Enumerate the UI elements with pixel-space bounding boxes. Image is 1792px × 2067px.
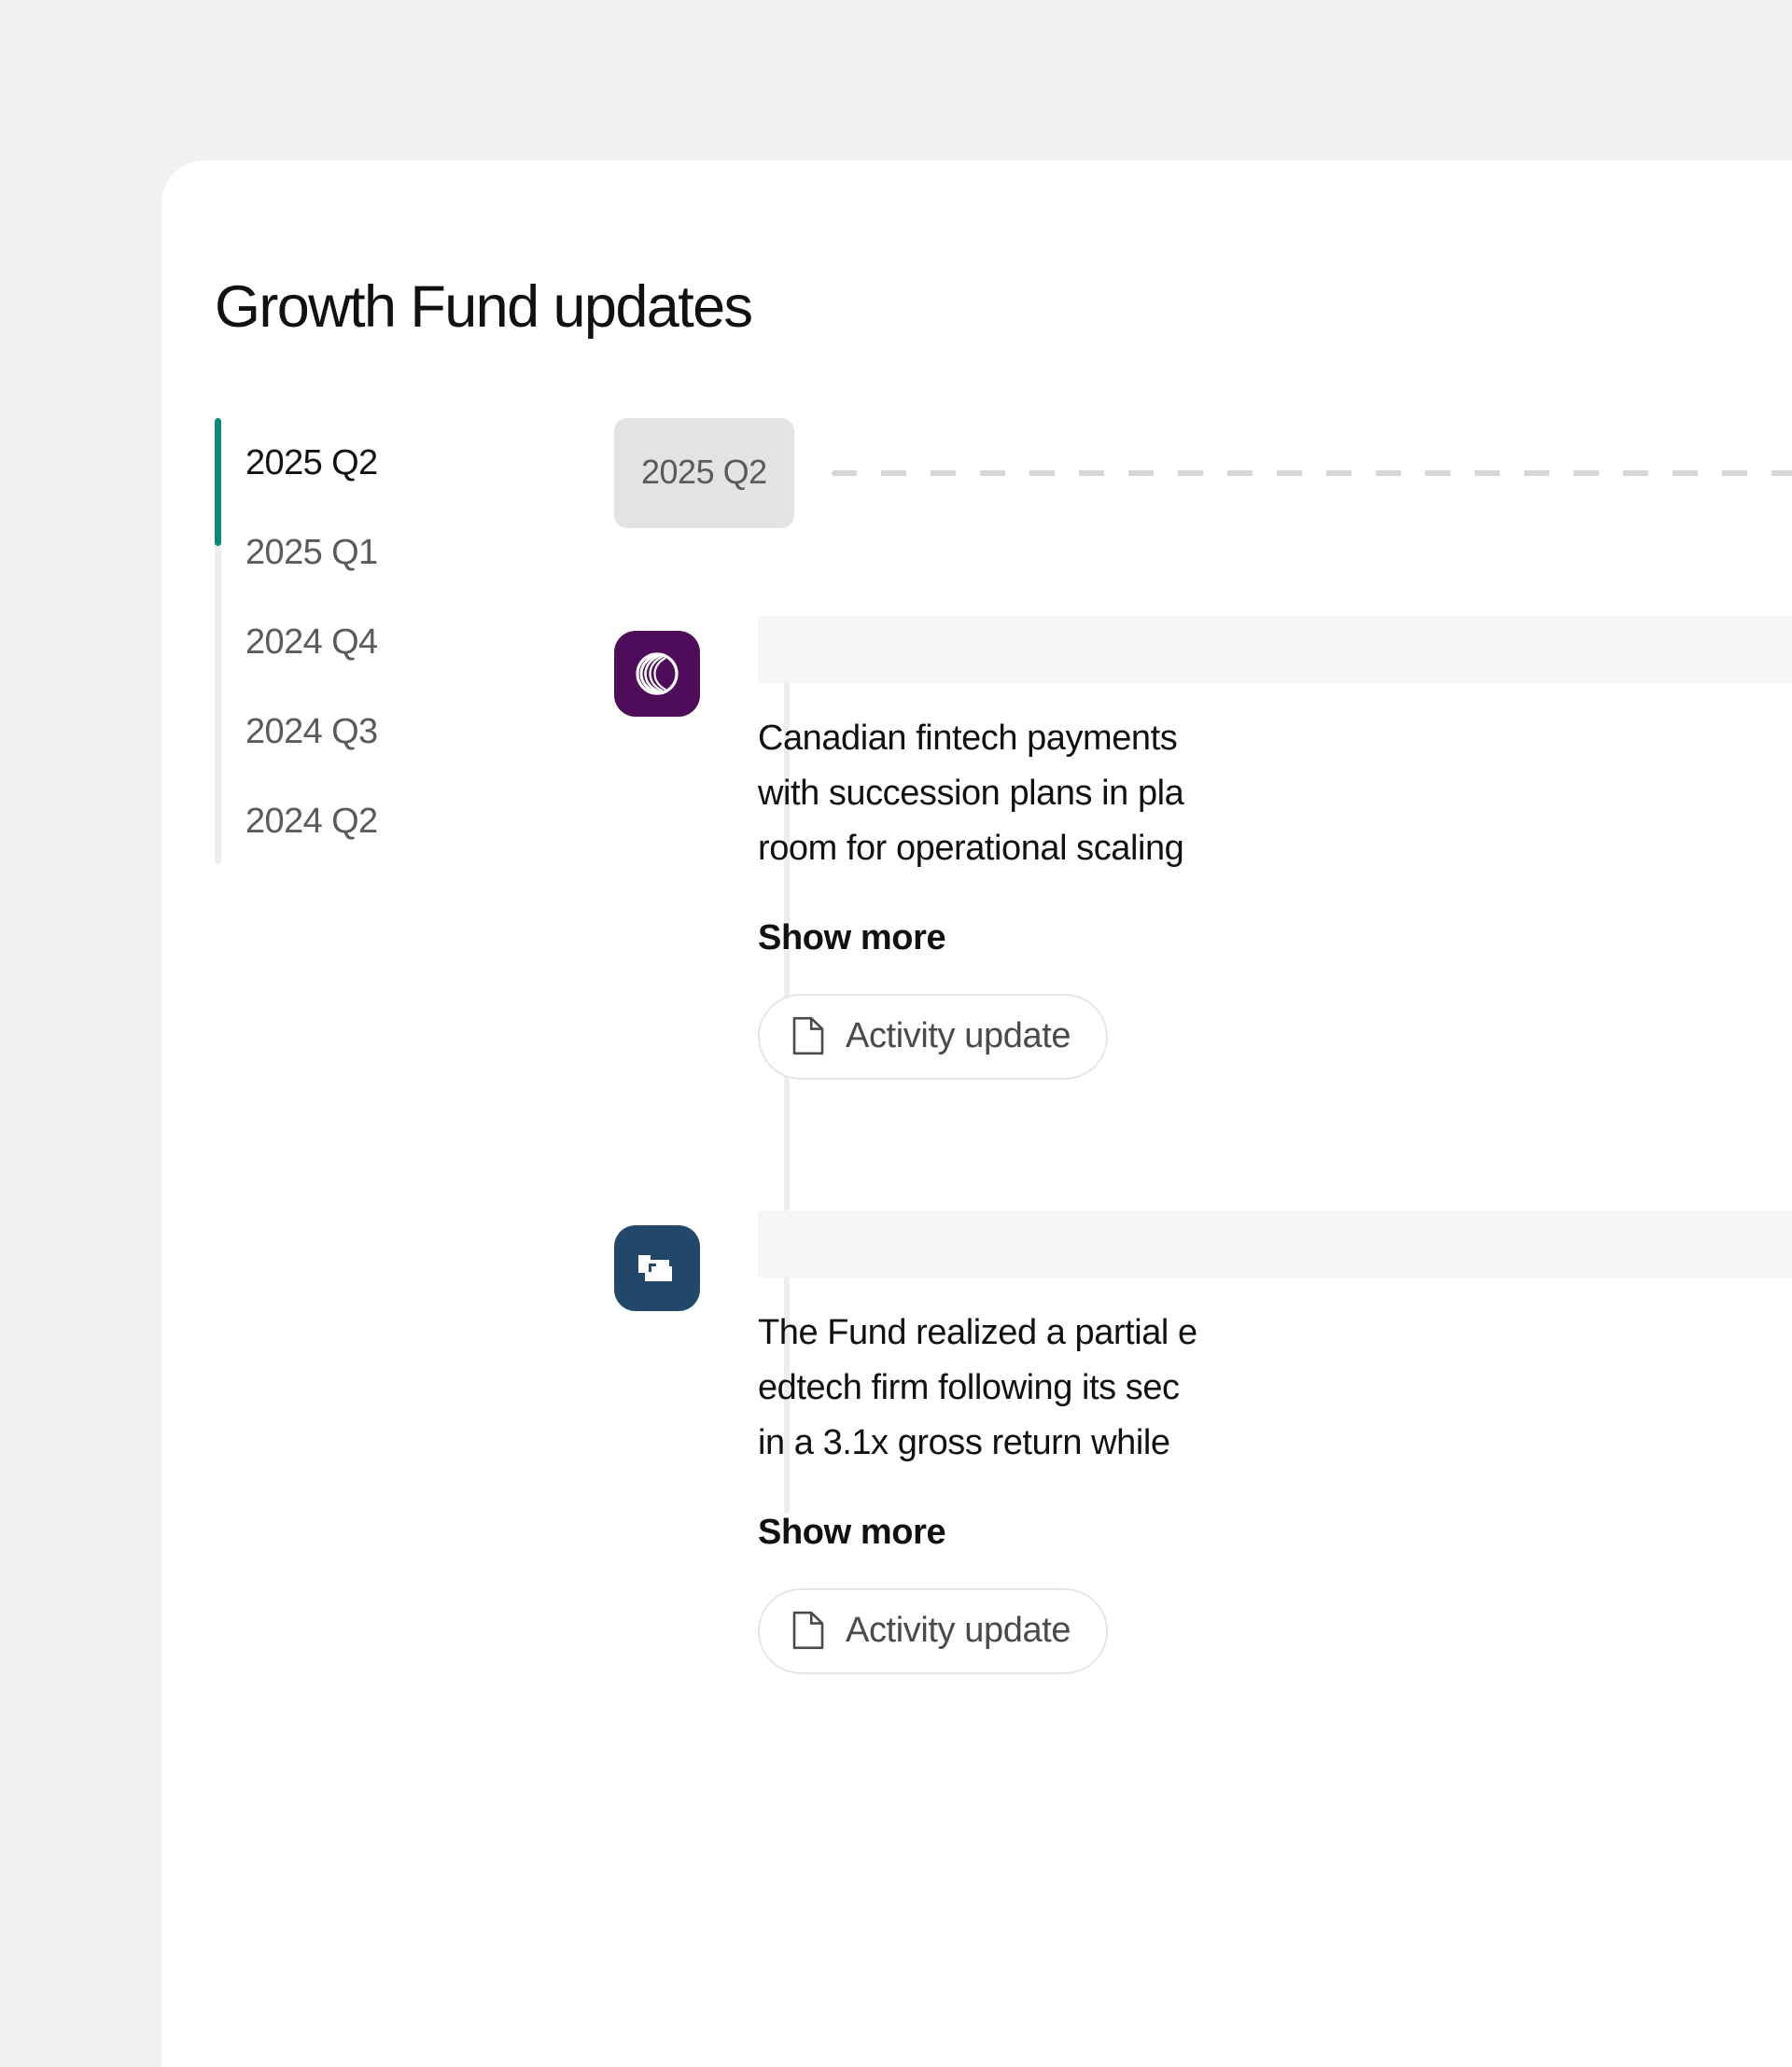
company-logo-purple-crescent-icon [614,631,700,717]
show-more-link[interactable]: Show more [758,1510,945,1555]
activity-update-tag[interactable]: Activity update [758,1588,1108,1674]
show-more-link[interactable]: Show more [758,915,945,960]
activity-update-tag-label: Activity update [846,1609,1071,1652]
entry-headline-placeholder [758,1210,1792,1278]
company-logo-blue-squares-icon [614,1225,700,1311]
entry-headline-placeholder [758,616,1792,683]
timeline-entry-content: Canadian fintech payments with successio… [758,616,1792,1080]
timeline-entry-content: The Fund realized a partial e edtech fir… [758,1210,1792,1674]
sidebar-item-2025-q2[interactable]: 2025 Q2 [245,418,523,508]
app-root: Growth Fund updates 2025 Q2 2025 Q1 2024… [0,0,1792,2067]
quarter-nav: 2025 Q2 2025 Q1 2024 Q4 2024 Q3 2024 Q2 [215,418,523,866]
timeline-quarter-header: 2025 Q2 [614,418,1792,528]
content-panel: Growth Fund updates 2025 Q2 2025 Q1 2024… [161,161,1792,2067]
quarter-nav-list: 2025 Q2 2025 Q1 2024 Q4 2024 Q3 2024 Q2 [215,418,523,866]
quarter-chip-2025-q2[interactable]: 2025 Q2 [614,418,794,528]
sidebar-item-2025-q1[interactable]: 2025 Q1 [245,508,523,597]
timeline-entry: The Fund realized a partial e edtech fir… [614,1210,1792,1674]
activity-update-tag[interactable]: Activity update [758,994,1108,1080]
timeline-entry: Canadian fintech payments with successio… [614,616,1792,1080]
entry-body-text: The Fund realized a partial e edtech fir… [758,1306,1792,1471]
timeline: 2025 Q2 [614,418,1792,1805]
content-body: 2025 Q2 2025 Q1 2024 Q4 2024 Q3 2024 Q2 … [161,161,1792,2067]
activity-update-tag-label: Activity update [846,1014,1071,1057]
document-icon [791,1016,825,1055]
sidebar-item-2024-q4[interactable]: 2024 Q4 [245,597,523,687]
timeline-dashed-divider [832,470,1792,476]
timeline-entry-list: Canadian fintech payments with successio… [614,616,1792,1674]
sidebar-item-2024-q2[interactable]: 2024 Q2 [245,776,523,866]
entry-body-text: Canadian fintech payments with successio… [758,711,1792,876]
sidebar-item-2024-q3[interactable]: 2024 Q3 [245,687,523,776]
document-icon [791,1611,825,1650]
